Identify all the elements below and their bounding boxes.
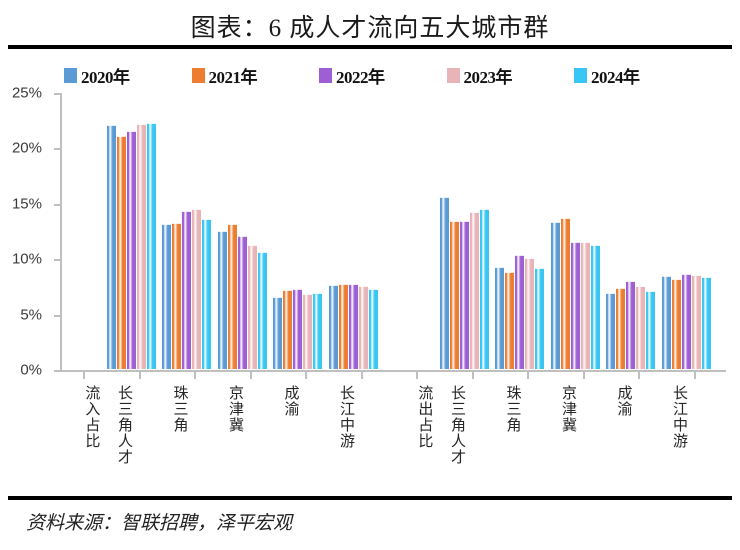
legend-item-label: 2021年 bbox=[209, 63, 258, 88]
bar bbox=[182, 211, 191, 369]
legend-item-label: 2024年 bbox=[591, 63, 640, 88]
bar bbox=[440, 197, 449, 369]
legend-item-label: 2022年 bbox=[336, 63, 385, 88]
bar bbox=[147, 123, 156, 369]
bar bbox=[672, 279, 681, 369]
bar bbox=[107, 125, 116, 369]
footer-divider bbox=[8, 496, 732, 500]
y-axis-tick bbox=[54, 93, 60, 95]
bar bbox=[495, 267, 504, 369]
bar bbox=[238, 236, 247, 369]
y-axis-tick-label: 10% bbox=[12, 251, 42, 268]
legend-item[interactable]: 2021年 bbox=[192, 63, 258, 88]
y-axis-tick bbox=[54, 370, 60, 372]
bar bbox=[162, 224, 171, 369]
x-axis-category-label: 长江中游 bbox=[337, 385, 353, 449]
bar bbox=[313, 293, 322, 369]
bar bbox=[561, 218, 570, 369]
x-axis-tick bbox=[527, 372, 529, 379]
bar bbox=[228, 224, 237, 369]
y-axis-tick-label: 5% bbox=[20, 306, 42, 323]
bar bbox=[606, 293, 615, 369]
panel-label: 流出占比 bbox=[416, 385, 432, 449]
source-note: 资料来源：智联招聘，泽平宏观 bbox=[26, 508, 292, 535]
bar bbox=[359, 286, 368, 369]
bar bbox=[626, 281, 635, 369]
legend-item-label: 2023年 bbox=[464, 63, 513, 88]
bar bbox=[258, 252, 267, 369]
x-axis-category-label: 长江中游 bbox=[670, 385, 686, 449]
bar bbox=[662, 276, 671, 369]
x-axis-tick bbox=[139, 372, 141, 379]
x-axis-tick bbox=[694, 372, 696, 379]
legend-item[interactable]: 2020年 bbox=[64, 63, 130, 88]
x-axis-line bbox=[60, 370, 726, 372]
y-axis-tick-label: 25% bbox=[12, 85, 42, 102]
bar bbox=[692, 275, 701, 369]
bar bbox=[702, 277, 711, 369]
legend-swatch-icon bbox=[192, 68, 205, 83]
x-axis-category-label: 京津冀 bbox=[226, 385, 242, 433]
bar bbox=[470, 212, 479, 369]
chart-page: 图表：6 成人才流向五大城市群 2020年2021年2022年2023年2024… bbox=[0, 0, 740, 550]
bar bbox=[283, 290, 292, 369]
bar bbox=[480, 209, 489, 369]
bar bbox=[581, 242, 590, 369]
x-axis-category-label: 珠三角 bbox=[504, 385, 520, 433]
bar bbox=[218, 231, 227, 370]
y-axis-line bbox=[60, 93, 62, 372]
x-axis-tick bbox=[305, 372, 307, 379]
bar bbox=[535, 268, 544, 369]
bar bbox=[505, 272, 514, 370]
bar bbox=[460, 221, 469, 369]
y-axis-tick bbox=[54, 259, 60, 261]
bar bbox=[202, 219, 211, 369]
y-axis-tick-label: 15% bbox=[12, 195, 42, 212]
x-axis-tick bbox=[361, 372, 363, 379]
bar bbox=[127, 131, 136, 369]
bar bbox=[646, 291, 655, 369]
x-axis-tick bbox=[194, 372, 196, 379]
x-axis-category-label: 长三角人才 bbox=[115, 385, 131, 465]
legend-swatch-icon bbox=[574, 68, 587, 83]
legend-item[interactable]: 2024年 bbox=[574, 63, 640, 88]
title-divider bbox=[8, 45, 732, 49]
bar bbox=[293, 289, 302, 369]
chart-legend: 2020年2021年2022年2023年2024年 bbox=[64, 62, 724, 88]
x-axis-category-label: 成渝 bbox=[615, 385, 631, 417]
y-axis-tick bbox=[54, 315, 60, 317]
y-axis-tick bbox=[54, 204, 60, 206]
bar bbox=[515, 255, 524, 369]
bar bbox=[525, 258, 534, 369]
bar bbox=[248, 245, 257, 369]
bar bbox=[137, 124, 146, 369]
bar bbox=[349, 284, 358, 369]
x-axis-category-label: 长三角人才 bbox=[448, 385, 464, 465]
x-axis-tick bbox=[250, 372, 252, 379]
bar bbox=[571, 242, 580, 369]
y-axis-tick-label: 0% bbox=[20, 362, 42, 379]
bar bbox=[616, 288, 625, 369]
legend-swatch-icon bbox=[447, 68, 460, 83]
panel-label: 流入占比 bbox=[83, 385, 99, 449]
bar bbox=[339, 284, 348, 369]
x-axis-category-label: 成渝 bbox=[282, 385, 298, 417]
legend-item-label: 2020年 bbox=[81, 63, 130, 88]
chart-area: 2020年2021年2022年2023年2024年 0%5%10%15%20%2… bbox=[14, 54, 726, 490]
page-title: 图表：6 成人才流向五大城市群 bbox=[0, 8, 740, 44]
bar bbox=[682, 274, 691, 369]
bar bbox=[369, 289, 378, 369]
x-axis-tick bbox=[583, 372, 585, 379]
x-axis-category-label: 京津冀 bbox=[559, 385, 575, 433]
bar bbox=[450, 221, 459, 369]
legend-item[interactable]: 2022年 bbox=[319, 63, 385, 88]
x-axis-tick bbox=[416, 372, 418, 379]
x-axis-tick bbox=[83, 372, 85, 379]
bar bbox=[172, 223, 181, 369]
bar bbox=[303, 294, 312, 369]
x-axis-tick bbox=[638, 372, 640, 379]
legend-swatch-icon bbox=[64, 68, 77, 83]
legend-item[interactable]: 2023年 bbox=[447, 63, 513, 88]
bar bbox=[551, 222, 560, 369]
bar bbox=[636, 286, 645, 369]
bar bbox=[192, 209, 201, 369]
bar bbox=[273, 297, 282, 369]
legend-swatch-icon bbox=[319, 68, 332, 83]
y-axis-tick-label: 20% bbox=[12, 140, 42, 157]
plot-area: 0%5%10%15%20%25%流入占比长三角人才珠三角京津冀成渝长江中游流出占… bbox=[60, 93, 726, 371]
bar bbox=[591, 245, 600, 369]
x-axis-tick bbox=[472, 372, 474, 379]
bar bbox=[117, 136, 126, 369]
x-axis-category-label: 珠三角 bbox=[171, 385, 187, 433]
y-axis-tick bbox=[54, 148, 60, 150]
bar bbox=[329, 285, 338, 369]
